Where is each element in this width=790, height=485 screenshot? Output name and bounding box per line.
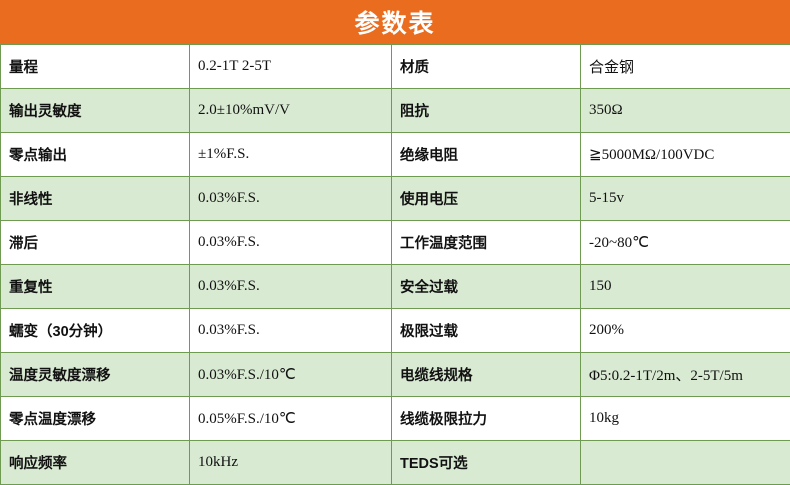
row-value-sensitivity: 2.0±10%mV/V bbox=[198, 102, 290, 118]
table-row: 蠕变（30分钟） 0.03%F.S. 极限过载 200% bbox=[1, 309, 790, 353]
table-row: 输出灵敏度 2.0±10%mV/V 阻抗 350Ω bbox=[1, 89, 790, 133]
row-label-zero-temp-drift: 零点温度漂移 bbox=[9, 412, 96, 428]
row-value-impedance: 350Ω bbox=[589, 102, 623, 118]
row-value-temp-sensitivity-drift: 0.03%F.S./10℃ bbox=[198, 367, 296, 383]
table-row: 零点输出 ±1%F.S. 绝缘电阻 ≧5000MΩ/100VDC bbox=[1, 133, 790, 177]
page-title: 参数表 bbox=[354, 4, 435, 40]
row-label-zero-output: 零点输出 bbox=[9, 148, 67, 164]
row-label-range: 量程 bbox=[9, 60, 38, 76]
row-value-zero-output: ±1%F.S. bbox=[198, 146, 249, 162]
table-row: 非线性 0.03%F.S. 使用电压 5-15v bbox=[1, 177, 790, 221]
row-label-response-frequency: 响应频率 bbox=[9, 456, 67, 472]
row-label-nonlinearity: 非线性 bbox=[9, 192, 53, 208]
row-label-material: 材质 bbox=[400, 60, 429, 76]
row-value-cable-tension: 10kg bbox=[589, 410, 619, 426]
row-label-insulation: 绝缘电阻 bbox=[400, 148, 458, 164]
row-value-response-frequency: 10kHz bbox=[198, 454, 238, 470]
row-label-voltage: 使用电压 bbox=[400, 192, 458, 208]
row-value-zero-temp-drift: 0.05%F.S./10℃ bbox=[198, 411, 296, 427]
row-label-temp-range: 工作温度范围 bbox=[400, 236, 487, 252]
row-label-safe-overload: 安全过载 bbox=[400, 280, 458, 296]
row-value-temp-range: -20~80℃ bbox=[589, 235, 649, 251]
row-value-voltage: 5-15v bbox=[589, 190, 624, 206]
row-value-range: 0.2-1T 2-5T bbox=[198, 58, 271, 74]
row-label-sensitivity: 输出灵敏度 bbox=[9, 104, 82, 120]
row-label-ultimate-overload: 极限过载 bbox=[400, 324, 458, 340]
table-row: 零点温度漂移 0.05%F.S./10℃ 线缆极限拉力 10kg bbox=[1, 397, 790, 441]
row-label-temp-sensitivity-drift: 温度灵敏度漂移 bbox=[9, 368, 111, 384]
row-label-repeatability: 重复性 bbox=[9, 280, 53, 296]
row-value-safe-overload: 150 bbox=[589, 278, 612, 294]
row-value-creep: 0.03%F.S. bbox=[198, 322, 260, 338]
parameter-sheet: 参数表 量程 0.2-1T 2-5T 材质 合金钢 输出灵敏度 2.0±10%m… bbox=[0, 0, 790, 476]
row-value-hysteresis: 0.03%F.S. bbox=[198, 234, 260, 250]
row-value-material: 合金钢 bbox=[589, 60, 634, 76]
row-label-teds: TEDS可选 bbox=[400, 456, 468, 472]
row-label-impedance: 阻抗 bbox=[400, 104, 429, 120]
row-value-repeatability: 0.03%F.S. bbox=[198, 278, 260, 294]
table-row: 温度灵敏度漂移 0.03%F.S./10℃ 电缆线规格 Φ5:0.2-1T/2m… bbox=[1, 353, 790, 397]
table-row: 量程 0.2-1T 2-5T 材质 合金钢 bbox=[1, 45, 790, 89]
row-label-cable-tension: 线缆极限拉力 bbox=[400, 412, 487, 428]
table-body: 量程 0.2-1T 2-5T 材质 合金钢 输出灵敏度 2.0±10%mV/V … bbox=[1, 45, 790, 485]
title-bar: 参数表 bbox=[0, 0, 790, 44]
row-label-creep: 蠕变（30分钟） bbox=[9, 324, 112, 340]
row-value-insulation: ≧5000MΩ/100VDC bbox=[589, 147, 714, 163]
row-value-nonlinearity: 0.03%F.S. bbox=[198, 190, 260, 206]
row-value-ultimate-overload: 200% bbox=[589, 322, 624, 338]
parameter-table: 量程 0.2-1T 2-5T 材质 合金钢 输出灵敏度 2.0±10%mV/V … bbox=[0, 44, 790, 485]
row-value-cable-spec: Φ5:0.2-1T/2m、2-5T/5m bbox=[589, 368, 743, 384]
table-row: 滞后 0.03%F.S. 工作温度范围 -20~80℃ bbox=[1, 221, 790, 265]
table-row: 重复性 0.03%F.S. 安全过载 150 bbox=[1, 265, 790, 309]
row-label-hysteresis: 滞后 bbox=[9, 236, 38, 252]
table-row: 响应频率 10kHz TEDS可选 bbox=[1, 441, 790, 485]
row-label-cable-spec: 电缆线规格 bbox=[400, 368, 473, 384]
